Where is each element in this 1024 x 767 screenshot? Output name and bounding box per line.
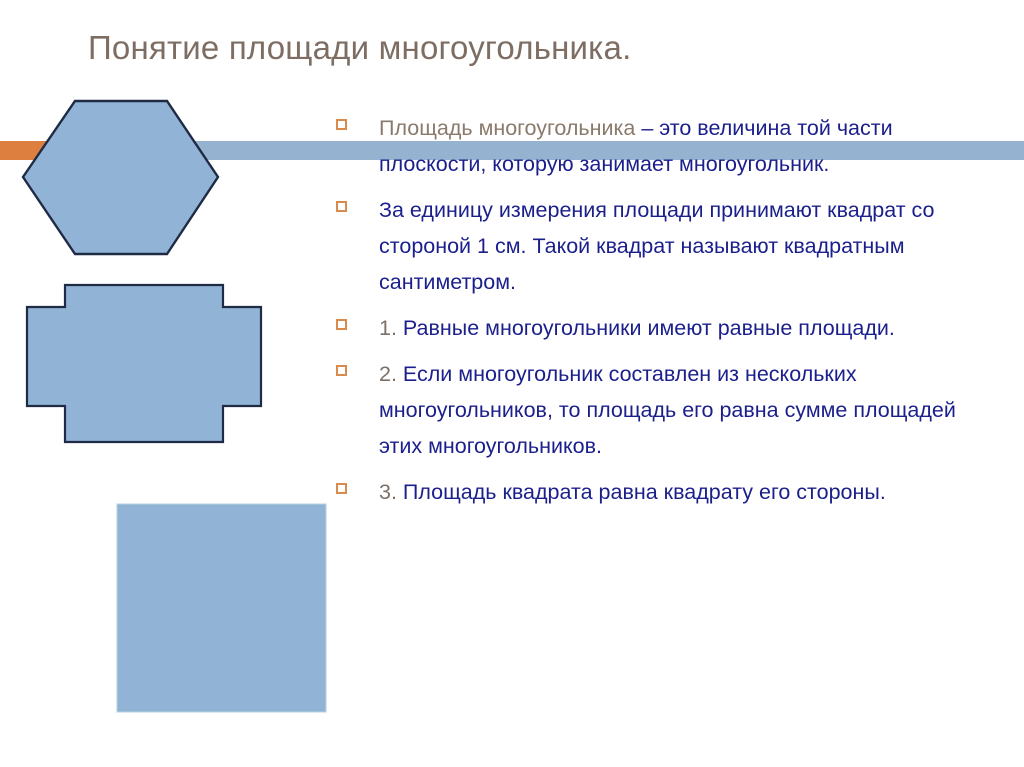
square-bullet-icon [336,319,347,330]
list-item-text: 1. Равные многоугольники имеют равные пл… [379,310,956,346]
hexagon-shape [12,92,228,264]
list-item-text: Площадь многоугольника – это величина то… [379,110,956,182]
list-item-lead: 2. [379,362,403,386]
list-item-lead: 3. [379,480,403,504]
list-item-body: Площадь квадрата равна квадрату его стор… [403,480,886,504]
shapes-group [0,0,340,767]
list-item: 1. Равные многоугольники имеют равные пл… [336,310,956,346]
list-item-body: Равные многоугольники имеют равные площа… [403,316,895,340]
square-bullet-icon [336,119,347,130]
slide-canvas: Понятие площади многоугольника. Площадь … [0,0,1024,767]
list-item-lead: Площадь многоугольника [379,116,641,140]
list-item-text: 2. Если многоугольник составлен из неско… [379,356,956,464]
square-shape [110,496,334,722]
square-bullet-icon [336,483,347,494]
list-item: 3. Площадь квадрата равна квадрату его с… [336,474,956,510]
list-item-text: За единицу измерения площади принимают к… [379,192,956,300]
cross-polygon-shape [18,276,270,452]
list-item: Площадь многоугольника – это величина то… [336,110,956,182]
list-item-text: 3. Площадь квадрата равна квадрату его с… [379,474,956,510]
bullet-list: Площадь многоугольника – это величина то… [336,110,956,520]
list-item: 2. Если многоугольник составлен из неско… [336,356,956,464]
list-item-lead: 1. [379,316,403,340]
square-bullet-icon [336,201,347,212]
list-item: За единицу измерения площади принимают к… [336,192,956,300]
list-item-body: За единицу измерения площади принимают к… [379,198,934,294]
list-item-body: Если многоугольник составлен из нескольк… [379,362,956,458]
square-bullet-icon [336,365,347,376]
